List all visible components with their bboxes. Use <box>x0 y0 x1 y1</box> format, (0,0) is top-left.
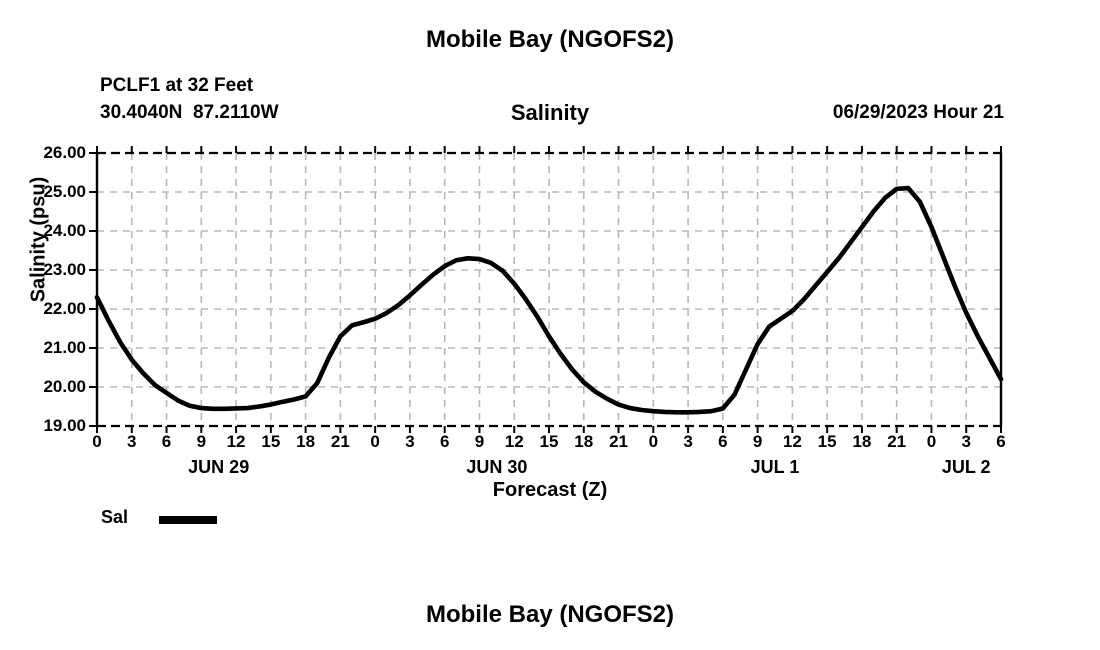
salinity-chart: Mobile Bay (NGOFS2) PCLF1 at 32 Feet 30.… <box>0 0 1100 650</box>
x-day-label: JUL 2 <box>906 457 1026 478</box>
x-tick-label: 3 <box>117 432 147 452</box>
x-tick-label: 0 <box>916 432 946 452</box>
x-tick-label: 21 <box>325 432 355 452</box>
x-tick-label: 6 <box>430 432 460 452</box>
legend-swatch <box>159 516 217 524</box>
x-tick-label: 21 <box>882 432 912 452</box>
x-tick-label: 3 <box>951 432 981 452</box>
y-tick-label: 26.00 <box>12 143 86 163</box>
x-tick-label: 15 <box>534 432 564 452</box>
x-tick-label: 9 <box>186 432 216 452</box>
x-tick-label: 15 <box>256 432 286 452</box>
x-day-label: JUN 30 <box>437 457 557 478</box>
y-tick-label: 23.00 <box>12 260 86 280</box>
y-tick-label: 19.00 <box>12 416 86 436</box>
x-tick-label: 21 <box>604 432 634 452</box>
x-tick-label: 9 <box>743 432 773 452</box>
x-tick-label: 3 <box>395 432 425 452</box>
x-tick-label: 18 <box>291 432 321 452</box>
x-tick-label: 18 <box>569 432 599 452</box>
x-tick-label: 0 <box>638 432 668 452</box>
x-tick-label: 6 <box>986 432 1016 452</box>
chart-bottom-title: Mobile Bay (NGOFS2) <box>0 601 1100 629</box>
x-tick-label: 0 <box>360 432 390 452</box>
x-tick-label: 3 <box>673 432 703 452</box>
x-tick-label: 6 <box>152 432 182 452</box>
grid-lines <box>97 153 1001 426</box>
x-tick-label: 15 <box>812 432 842 452</box>
x-tick-label: 6 <box>708 432 738 452</box>
legend-series-label: Sal <box>101 507 128 528</box>
y-tick-label: 21.00 <box>12 338 86 358</box>
x-tick-label: 18 <box>847 432 877 452</box>
y-tick-label: 20.00 <box>12 377 86 397</box>
y-tick-label: 24.00 <box>12 221 86 241</box>
y-tick-label: 22.00 <box>12 299 86 319</box>
x-tick-label: 12 <box>499 432 529 452</box>
x-day-label: JUL 1 <box>715 457 835 478</box>
x-tick-label: 0 <box>82 432 112 452</box>
x-day-label: JUN 29 <box>159 457 279 478</box>
axis-ticks <box>89 146 1001 433</box>
y-tick-label: 25.00 <box>12 182 86 202</box>
x-tick-label: 12 <box>777 432 807 452</box>
plot-canvas <box>0 0 1100 650</box>
x-tick-label: 12 <box>221 432 251 452</box>
x-tick-label: 9 <box>464 432 494 452</box>
